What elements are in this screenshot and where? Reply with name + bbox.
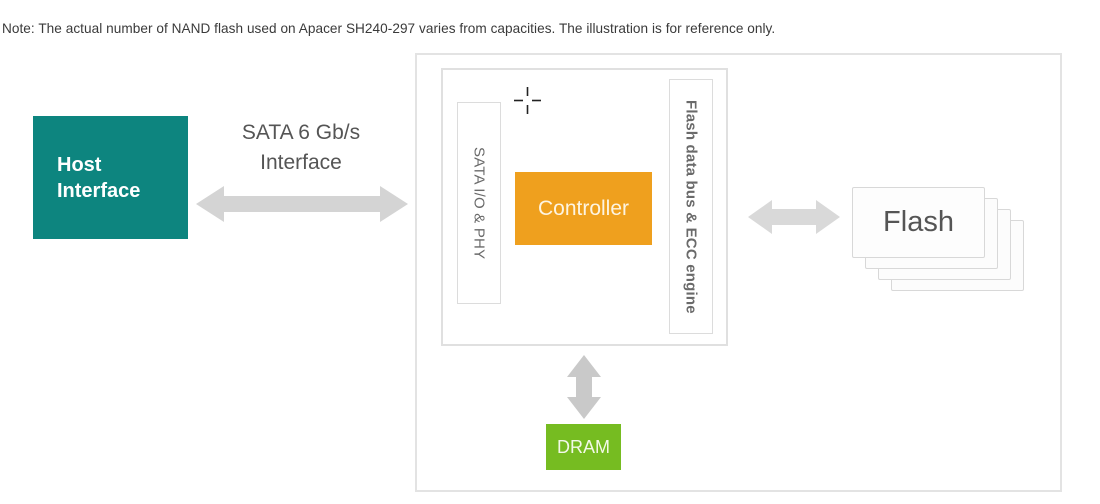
host-interface-label: Host Interface (57, 152, 140, 204)
flash-data-bus-ecc-block: Flash data bus & ECC engine (669, 79, 713, 334)
flash-data-bus-ecc-label: Flash data bus & ECC engine (683, 100, 700, 314)
host-controller-arrow-icon (196, 182, 408, 226)
controller-block: Controller (515, 172, 652, 245)
flash-label: Flash (883, 208, 954, 237)
dram-block: DRAM (546, 424, 621, 470)
sata-interface-label: SATA 6 Gb/s Interface (196, 118, 406, 178)
controller-dram-arrow-icon (566, 355, 602, 419)
sata-io-phy-block: SATA I/O & PHY (457, 102, 501, 304)
host-interface-block: Host Interface (33, 116, 188, 239)
ssd-architecture-diagram: Host Interface SATA 6 Gb/s Interface SAT… (0, 0, 1100, 504)
controller-label: Controller (538, 198, 629, 219)
flash-stack: Flash (852, 187, 1052, 297)
crosshair-cursor-icon (514, 87, 541, 114)
controller-flash-arrow-icon (748, 197, 840, 237)
dram-label: DRAM (557, 438, 610, 456)
sata-io-phy-label: SATA I/O & PHY (471, 147, 488, 259)
flash-card: Flash (852, 187, 985, 258)
